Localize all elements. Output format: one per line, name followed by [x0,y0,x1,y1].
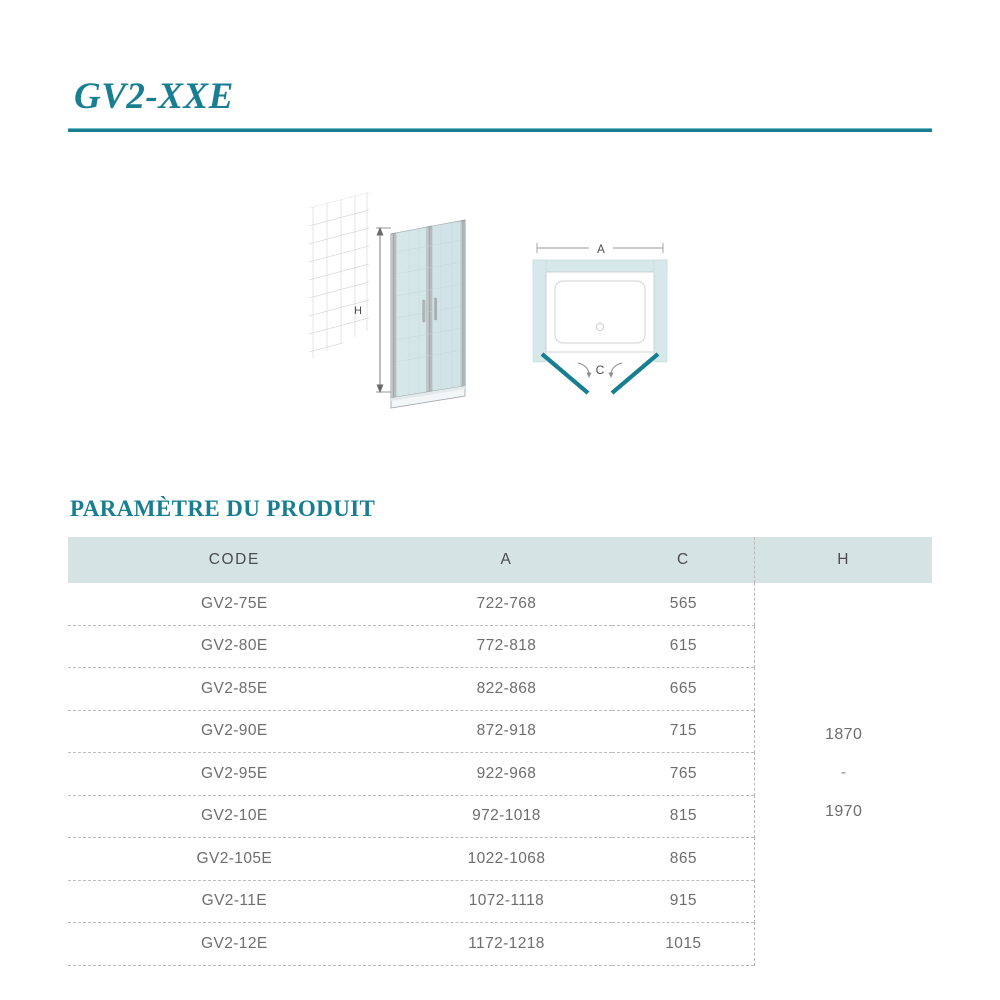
cell-c: 865 [612,838,755,881]
svg-text:H: H [354,305,362,317]
perspective-svg: H [305,190,505,440]
cell-a: 972-1018 [401,795,613,838]
cell-code: GV2-10E [68,795,401,838]
cell-a: 922-968 [401,753,613,796]
cell-c: 915 [612,880,755,923]
table-header-row: CODE A C H [68,537,932,583]
opening-label-c: C [596,363,605,377]
cell-c: 815 [612,795,755,838]
h-max: 1970 [825,793,862,831]
cell-c: 665 [612,668,755,711]
title-divider [68,128,932,132]
table-body: GV2-75E 722-768 565 1870 - 1970 GV2-80E … [68,583,932,965]
column-header-code: CODE [68,537,401,583]
cell-code: GV2-80E [68,625,401,668]
product-parameter-table: CODE A C H GV2-75E 722-768 565 1870 - 19… [68,537,932,966]
height-label-h: H [354,305,362,317]
cell-c: 715 [612,710,755,753]
door-handle-right [434,298,437,320]
section-heading: PARAMÈTRE DU PRODUIT [70,496,375,522]
cell-code: GV2-75E [68,583,401,625]
cell-code: GV2-90E [68,710,401,753]
h-separator: - [841,754,847,792]
height-dimension [376,228,391,392]
h-min: 1870 [825,716,862,754]
shower-tray [546,272,654,352]
cell-a: 1172-1218 [401,923,613,966]
title-block: GV2-XXE [68,78,932,132]
cell-a: 1072-1118 [401,880,613,923]
cell-c: 565 [612,583,755,625]
table-row: GV2-75E 722-768 565 1870 - 1970 [68,583,932,625]
drain-icon [596,323,603,330]
tiled-wall [309,192,369,360]
shower-door-assembly [391,220,465,408]
cell-c: 615 [612,625,755,668]
cell-h-merged: 1870 - 1970 [755,583,932,965]
shower-door-plan-view: A [515,232,705,417]
table-header: CODE A C H [68,537,932,583]
cell-code: GV2-12E [68,923,401,966]
cell-code: GV2-11E [68,880,401,923]
cell-a: 772-818 [401,625,613,668]
product-diagrams: H [0,190,1000,450]
cell-c: 1015 [612,923,755,966]
width-label-a: A [597,244,605,256]
spec-table: CODE A C H GV2-75E 722-768 565 1870 - 19… [68,537,932,966]
cell-a: 822-868 [401,668,613,711]
door-handle-left [422,300,425,322]
column-header-h: H [755,537,932,583]
page-title: GV2-XXE [68,78,932,117]
shower-door-perspective-view: H [305,190,505,445]
cell-code: GV2-105E [68,838,401,881]
cell-a: 722-768 [401,583,613,625]
cell-a: 1022-1068 [401,838,613,881]
cell-c: 765 [612,753,755,796]
plan-svg: A [515,232,705,412]
cell-code: GV2-95E [68,753,401,796]
cell-code: GV2-85E [68,668,401,711]
cell-a: 872-918 [401,710,613,753]
column-header-c: C [612,537,755,583]
column-header-a: A [401,537,613,583]
